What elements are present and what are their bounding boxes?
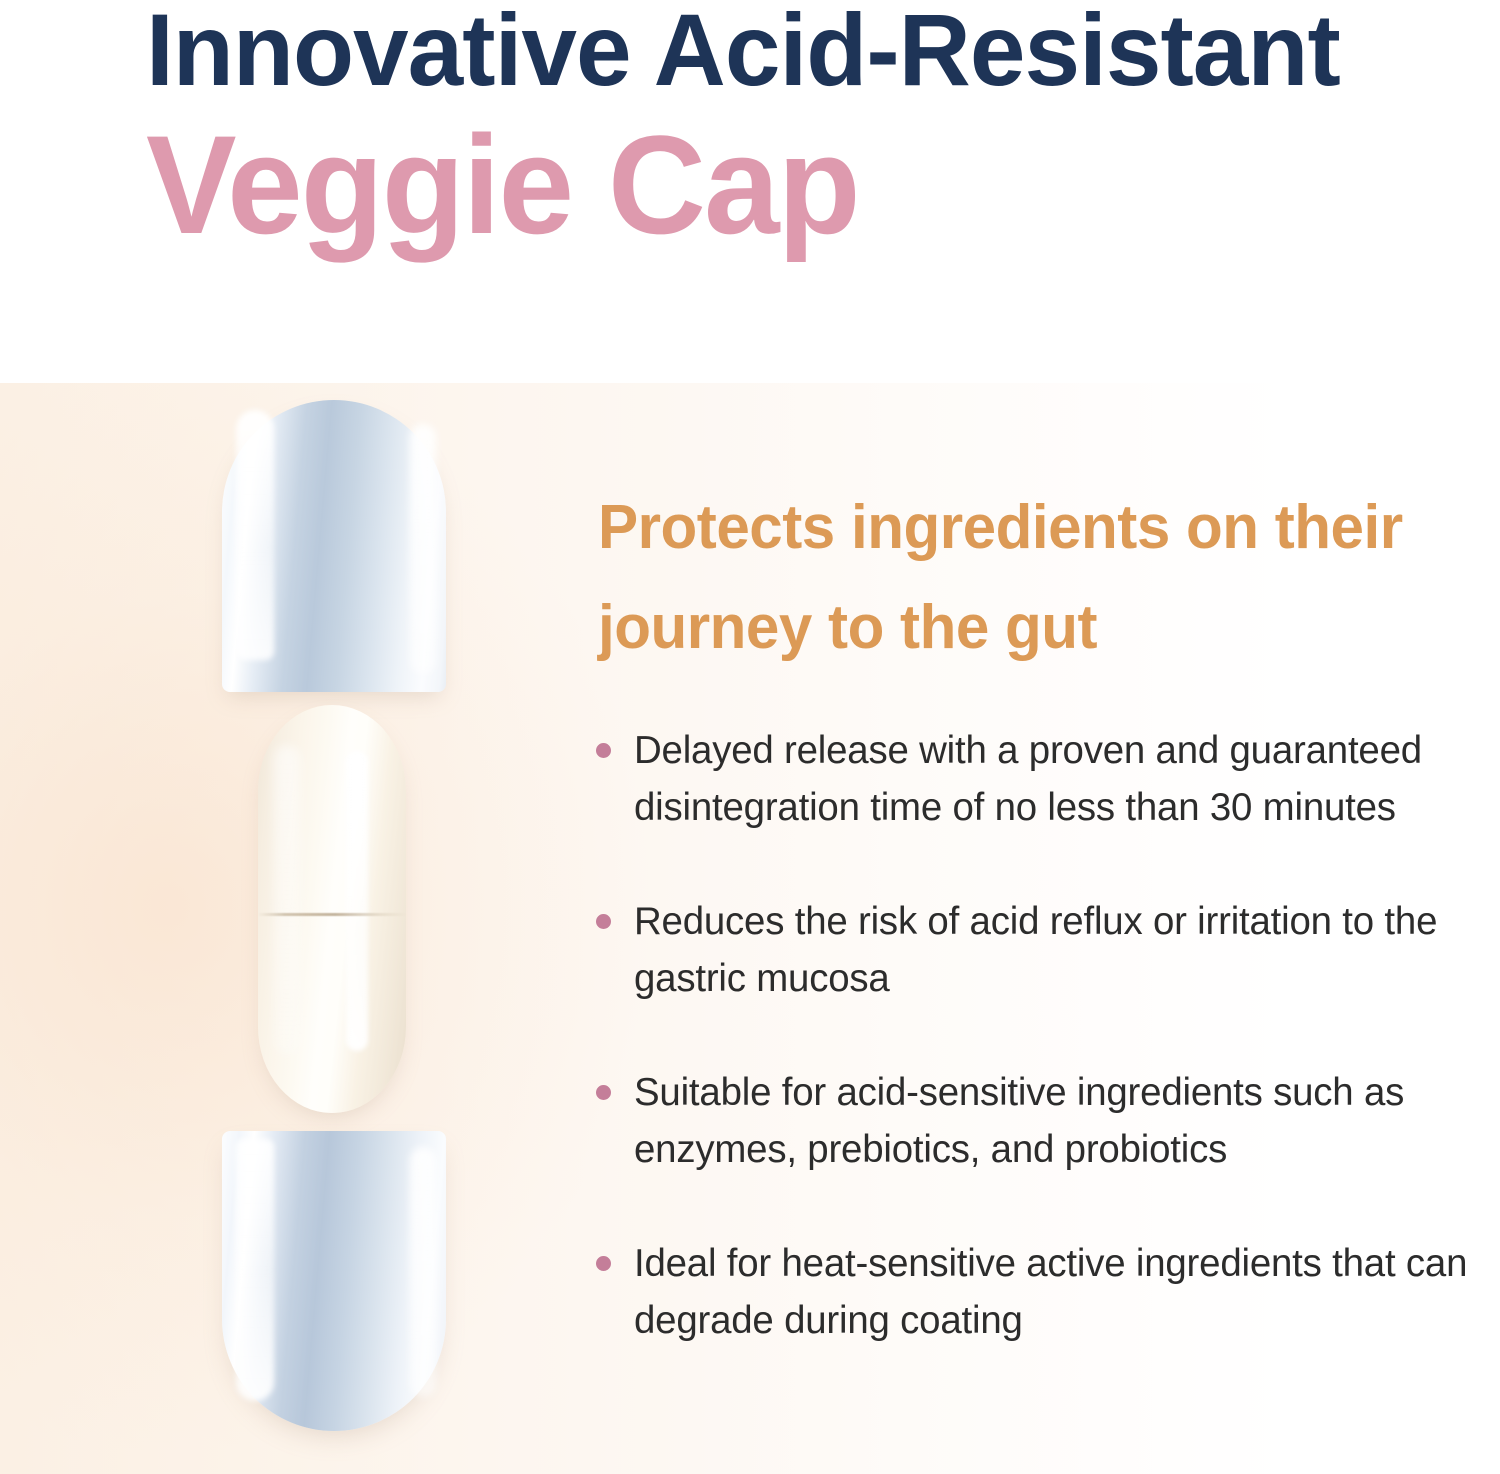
capsule-body-icon	[258, 705, 406, 1113]
list-item: Suitable for acid-sensitive ingredients …	[596, 1064, 1500, 1178]
list-item: Ideal for heat-sensitive active ingredie…	[596, 1235, 1500, 1349]
bullet-dot-icon	[596, 1085, 611, 1100]
capsule-bottom-cap-icon	[222, 1131, 446, 1431]
headline-secondary: Veggie Cap	[146, 110, 859, 260]
benefits-heading: Protects ingredients on their journey to…	[598, 478, 1471, 678]
bullet-dot-icon	[596, 914, 611, 929]
list-item: Delayed release with a proven and guaran…	[596, 722, 1500, 836]
capsule-seam-line	[258, 913, 406, 916]
list-item-text: Delayed release with a proven and guaran…	[634, 722, 1487, 836]
capsule-illustration	[190, 383, 490, 1474]
benefits-content: Protects ingredients on their journey to…	[596, 383, 1500, 1474]
list-item-text: Suitable for acid-sensitive ingredients …	[634, 1064, 1487, 1178]
capsule-body-highlight-left	[274, 745, 300, 1055]
capsule-body-highlight-right	[346, 751, 368, 1051]
list-item: Reduces the risk of acid reflux or irrit…	[596, 893, 1500, 1007]
list-item-text: Reduces the risk of acid reflux or irrit…	[634, 893, 1487, 1007]
infographic-page: Innovative Acid-Resistant Veggie Cap Pro…	[0, 0, 1500, 1474]
bullet-dot-icon	[596, 1256, 611, 1271]
header-band: Innovative Acid-Resistant Veggie Cap	[0, 0, 1500, 383]
bullet-dot-icon	[596, 743, 611, 758]
feature-panel: Protects ingredients on their journey to…	[0, 383, 1500, 1474]
list-item-text: Ideal for heat-sensitive active ingredie…	[634, 1235, 1487, 1349]
benefits-list: Delayed release with a proven and guaran…	[596, 722, 1500, 1349]
capsule-top-cap-icon	[222, 400, 446, 692]
headline-primary: Innovative Acid-Resistant	[146, 0, 1340, 104]
